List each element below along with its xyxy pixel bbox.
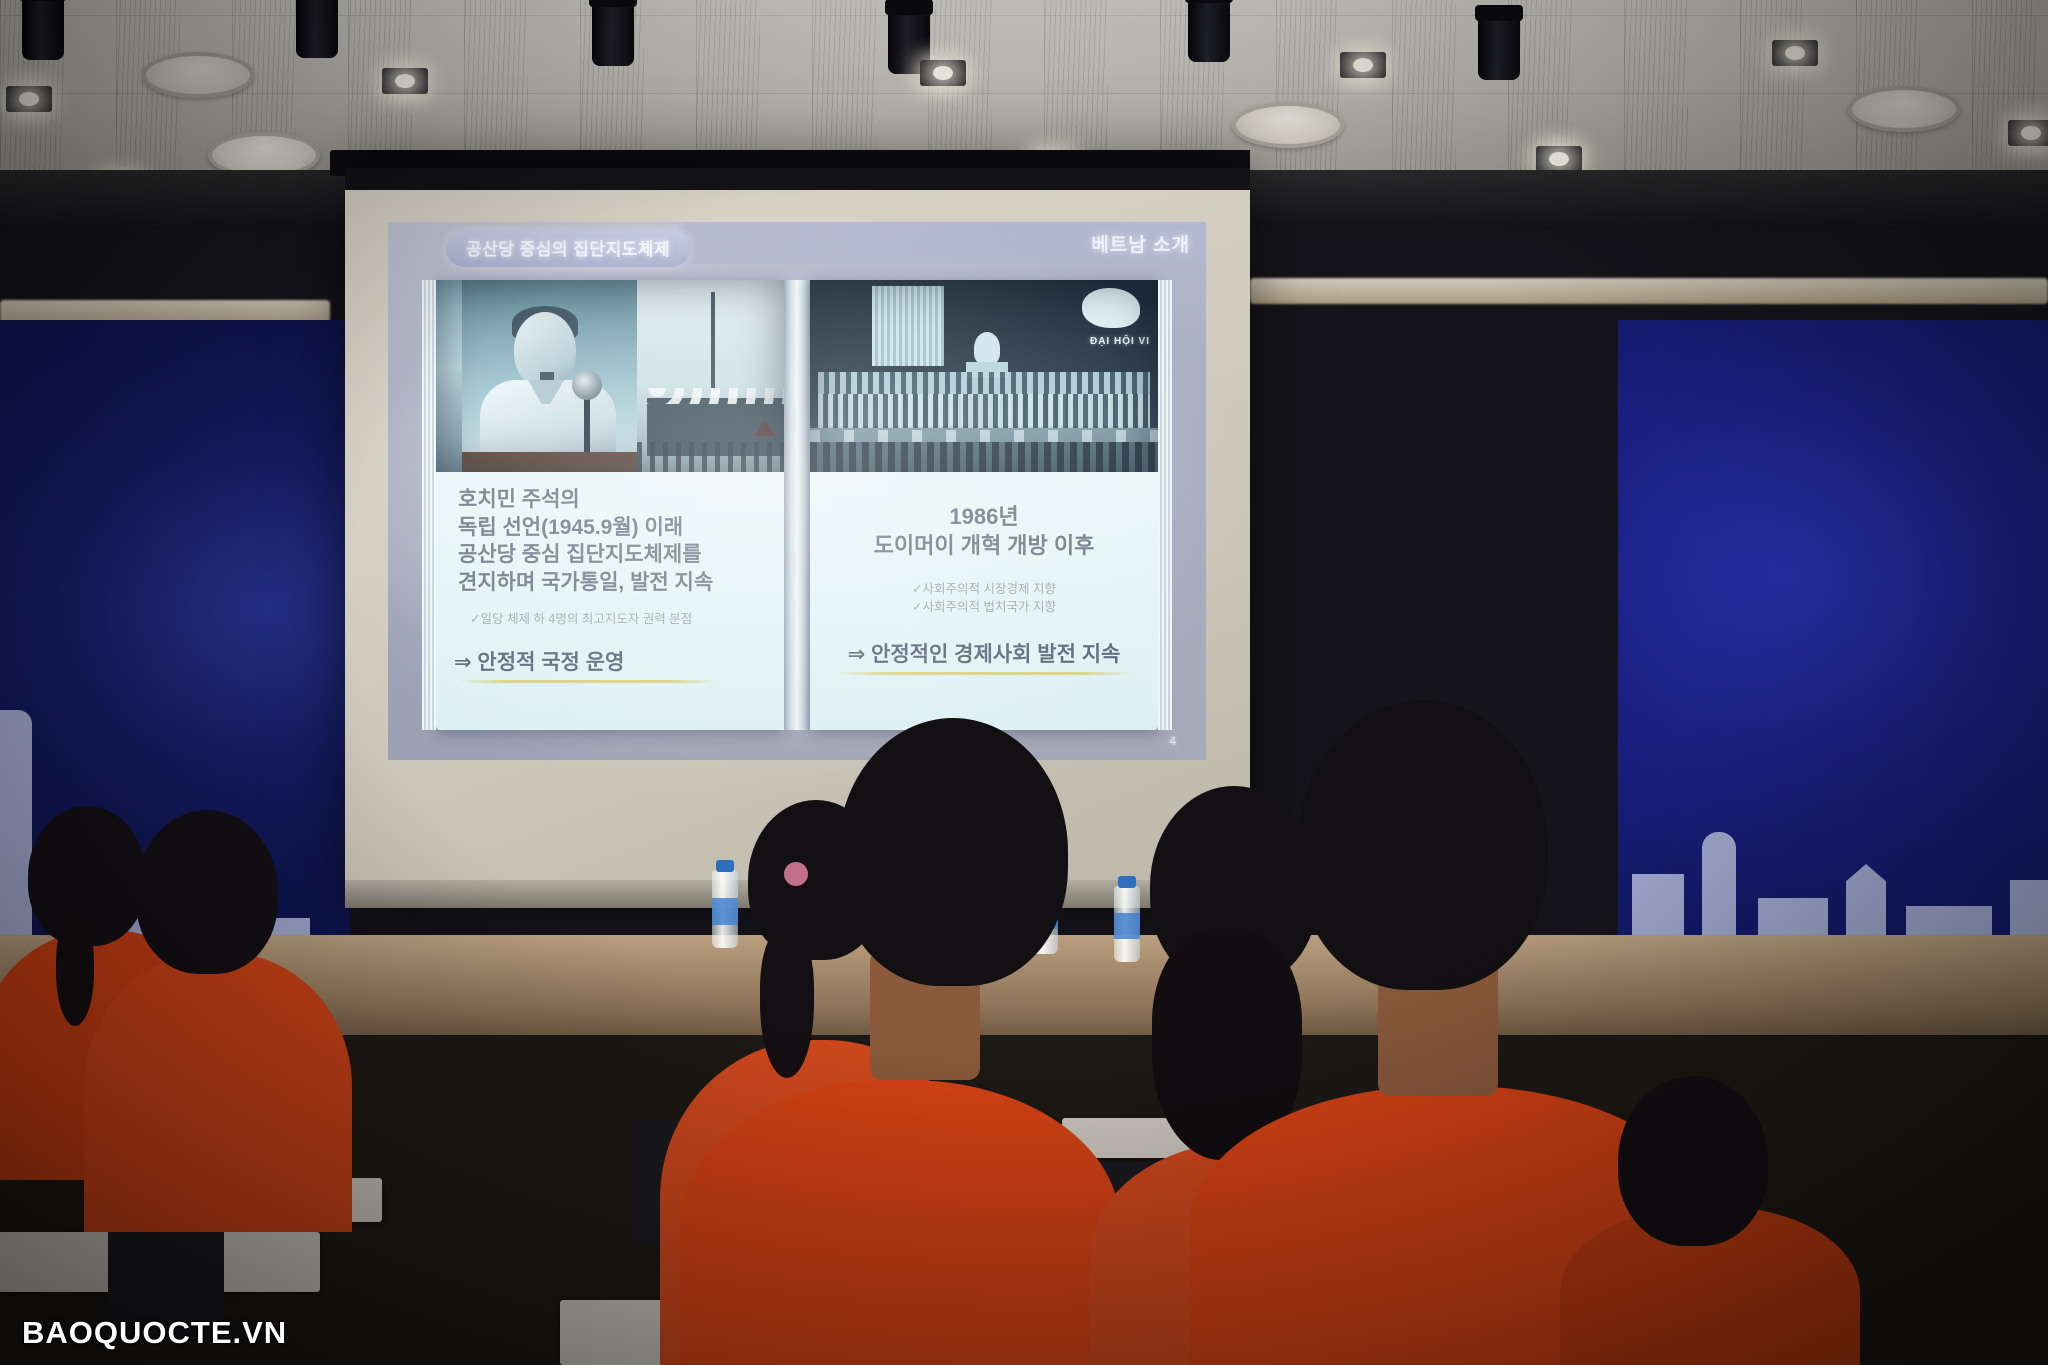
ceiling-downlight-icon: [382, 68, 428, 94]
ceiling-downlight-icon: [1772, 40, 1818, 66]
lecture-hall-room: 공산당 중심의 집단지도체제 베트남 소개: [0, 0, 2048, 1365]
right-lead-text: 1986년 도이머이 개혁 개방 이후: [810, 502, 1158, 560]
track-light-icon: [1478, 14, 1520, 80]
right-conclusion-underline: [834, 672, 1134, 675]
water-bottle: [712, 870, 738, 948]
ceiling-downlight-icon: [1536, 146, 1582, 172]
ceiling-downlight-icon: [6, 86, 52, 112]
track-light-icon: [1188, 0, 1230, 62]
left-conclusion-underline: [458, 680, 718, 683]
slide-page-left: 호치민 주석의 독립 선언(1945.9월) 이래 공산당 중심 집단지도체제를…: [436, 280, 784, 730]
page-edge: [422, 280, 436, 730]
photo-party-congress-vi: ĐẠI HỘI VI: [810, 280, 1158, 472]
page-edge: [1158, 280, 1172, 730]
ceiling-downlight-icon: [2008, 120, 2048, 146]
slide-header: 공산당 중심의 집단지도체제 베트남 소개: [388, 222, 1206, 268]
ceiling-speaker-icon: [1232, 102, 1344, 148]
right-bullet-2: ✓사회주의적 법치국가 지향: [810, 598, 1158, 616]
slide-section-badge: 공산당 중심의 집단지도체제: [446, 230, 690, 267]
presentation-slide: 공산당 중심의 집단지도체제 베트남 소개: [388, 222, 1206, 760]
slide-page-right: ĐẠI HỘI VI 1986년 도이머이 개혁 개방 이후 ✓사회주의적 시장: [810, 280, 1158, 730]
watermark: BAOQUOCTE.VN: [22, 1315, 287, 1351]
photo-ho-chi-minh-declaration: [436, 280, 784, 472]
skyline-graphic: [1618, 700, 2048, 960]
screenshot-root: 공산당 중심의 집단지도체제 베트남 소개: [0, 0, 2048, 1365]
left-lead-line-3: 공산당 중심 집단지도체제를: [458, 541, 806, 569]
water-bottle: [1114, 886, 1140, 962]
slide-book-graphic: 호치민 주석의 독립 선언(1945.9월) 이래 공산당 중심 집단지도체제를…: [436, 280, 1158, 730]
left-bullets: ✓일당 체제 하 4명의 최고지도자 권력 분점: [436, 610, 818, 628]
left-lead-line-2: 독립 선언(1945.9월) 이래: [458, 514, 806, 542]
ceiling-downlight-icon: [1340, 52, 1386, 78]
side-wall-panel-right: [1618, 320, 2048, 960]
right-bullet-1: ✓사회주의적 시장경제 지향: [810, 580, 1158, 598]
left-conclusion: ⇒ 안정적 국정 운영: [436, 646, 802, 676]
right-bullets: ✓사회주의적 시장경제 지향 ✓사회주의적 법치국가 지향: [810, 580, 1158, 616]
book-spine: [784, 280, 810, 730]
track-light-icon: [592, 0, 634, 66]
left-lead-line-1: 호치민 주석의: [458, 486, 806, 514]
left-lead-text: 호치민 주석의 독립 선언(1945.9월) 이래 공산당 중심 집단지도체제를…: [436, 486, 806, 597]
wall-light-strip: [1250, 278, 2048, 304]
left-lead-line-4: 견지하며 국가통일, 발전 지속: [458, 569, 806, 597]
slide-brand-title: 베트남 소개: [1091, 230, 1190, 257]
right-lead-line-1: 1986년: [810, 502, 1158, 531]
projection-screen-top-bar: [345, 168, 1250, 190]
track-light-icon: [296, 0, 338, 58]
track-light-icon: [22, 0, 64, 60]
right-lead-line-2: 도이머이 개혁 개방 이후: [810, 531, 1158, 560]
left-bullet-1: ✓일당 체제 하 4명의 최고지도자 권력 분점: [470, 610, 818, 628]
ceiling-speaker-icon: [142, 52, 254, 98]
right-conclusion: ⇒ 안정적인 경제사회 발전 지속: [810, 638, 1158, 668]
ceiling-speaker-icon: [1848, 86, 1960, 132]
slide-page-number: 4: [1169, 734, 1176, 748]
ceiling-downlight-icon: [920, 60, 966, 86]
